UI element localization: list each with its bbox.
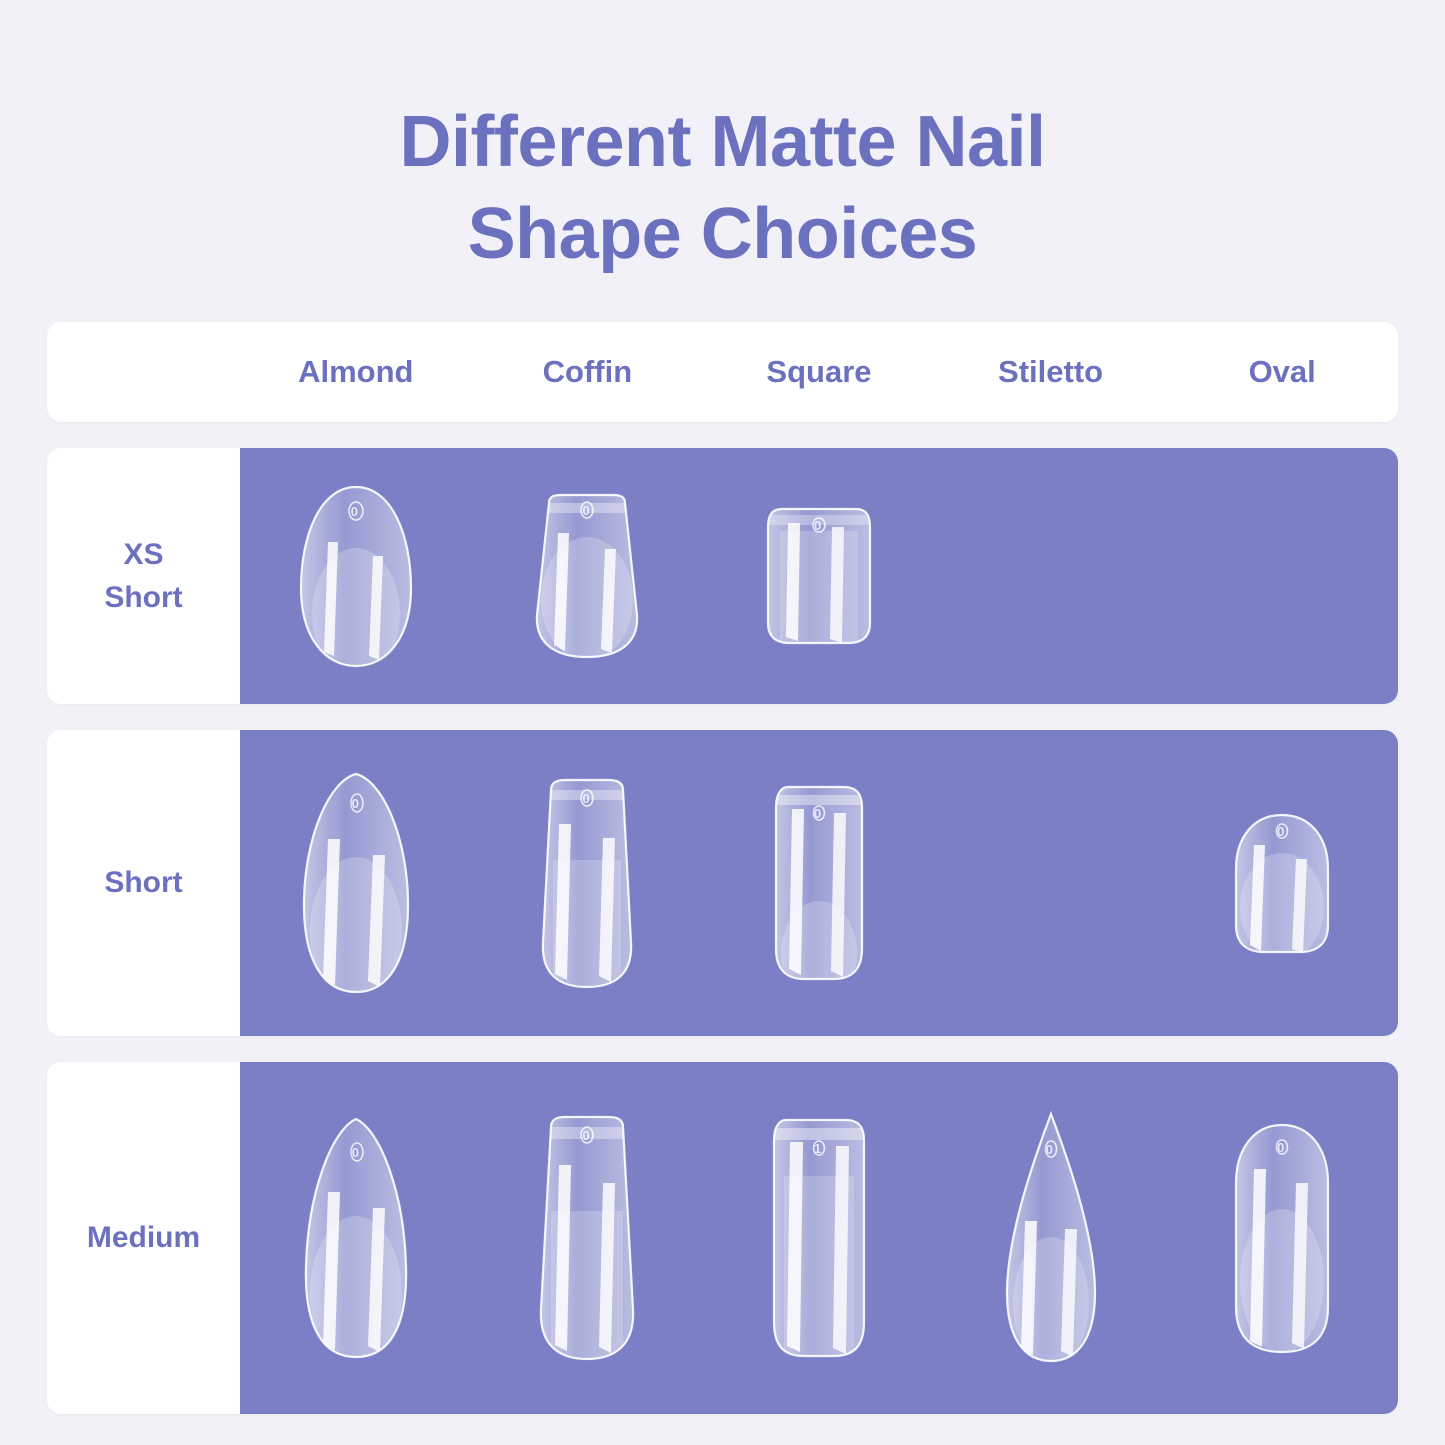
nail-tip-stiletto-medium: 0 <box>999 1111 1103 1366</box>
column-header-square: Square <box>703 354 935 390</box>
header-column-labels: Almond Coffin Square Stiletto Oval <box>240 354 1398 390</box>
table-row-xs-short: XS Short <box>47 448 1398 704</box>
cell-xs-short-oval <box>1166 448 1398 704</box>
nail-tip-square-medium: 1 <box>766 1116 872 1361</box>
column-header-oval: Oval <box>1166 354 1398 390</box>
nail-tip-square-xs-short: 0 <box>760 505 878 647</box>
cell-short-square[interactable]: 0 <box>703 730 935 1036</box>
cell-medium-square[interactable]: 1 <box>703 1062 935 1414</box>
cell-short-oval[interactable]: 0 <box>1166 730 1398 1036</box>
row-label-short: Short <box>47 730 240 1036</box>
nail-tip-coffin-short: 0 <box>531 776 643 991</box>
cell-medium-almond[interactable]: 0 <box>240 1062 472 1414</box>
cell-xs-short-coffin[interactable]: 0 <box>472 448 704 704</box>
cell-short-stiletto <box>935 730 1167 1036</box>
row-label-medium: Medium <box>47 1062 240 1414</box>
row-label-line-1: XS <box>104 533 182 577</box>
column-header-almond: Almond <box>240 354 472 390</box>
page-title-line-1: Different Matte Nail <box>0 96 1445 188</box>
cell-short-almond[interactable]: 0 <box>240 730 472 1036</box>
row-panel-short: 0 0 <box>240 730 1398 1036</box>
page-title: Different Matte Nail Shape Choices <box>0 0 1445 280</box>
column-header-coffin: Coffin <box>472 354 704 390</box>
nail-tip-almond-medium: 0 <box>296 1116 416 1361</box>
table-row-medium: Medium 0 <box>47 1062 1398 1414</box>
cell-short-coffin[interactable]: 0 <box>472 730 704 1036</box>
nail-tip-almond-xs-short: 0 <box>297 484 415 669</box>
nail-shape-size-table: Almond Coffin Square Stiletto Oval XS Sh… <box>47 322 1398 1414</box>
table-header-row: Almond Coffin Square Stiletto Oval <box>47 322 1398 422</box>
row-panel-xs-short: 0 <box>240 448 1398 704</box>
table-row-short: Short 0 <box>47 730 1398 1036</box>
cell-xs-short-stiletto <box>935 448 1167 704</box>
nail-tip-coffin-xs-short: 0 <box>525 491 649 661</box>
row-label-line-2: Short <box>104 576 182 620</box>
page-title-line-2: Shape Choices <box>0 188 1445 280</box>
column-header-stiletto: Stiletto <box>935 354 1167 390</box>
row-label-line-1: Medium <box>87 1216 200 1260</box>
row-panel-medium: 0 0 <box>240 1062 1398 1414</box>
row-label-line-1: Short <box>104 861 182 905</box>
nail-tip-oval-short: 0 <box>1228 811 1336 956</box>
cell-xs-short-almond[interactable]: 0 <box>240 448 472 704</box>
cell-medium-coffin[interactable]: 0 <box>472 1062 704 1414</box>
cell-medium-stiletto[interactable]: 0 <box>935 1062 1167 1414</box>
nail-tip-coffin-medium: 0 <box>529 1113 645 1363</box>
nail-tip-oval-medium: 0 <box>1228 1121 1336 1356</box>
nail-tip-almond-short: 0 <box>295 771 417 996</box>
cell-xs-short-square[interactable]: 0 <box>703 448 935 704</box>
nail-tip-square-short: 0 <box>768 783 870 983</box>
row-label-xs-short: XS Short <box>47 448 240 704</box>
cell-medium-oval[interactable]: 0 <box>1166 1062 1398 1414</box>
